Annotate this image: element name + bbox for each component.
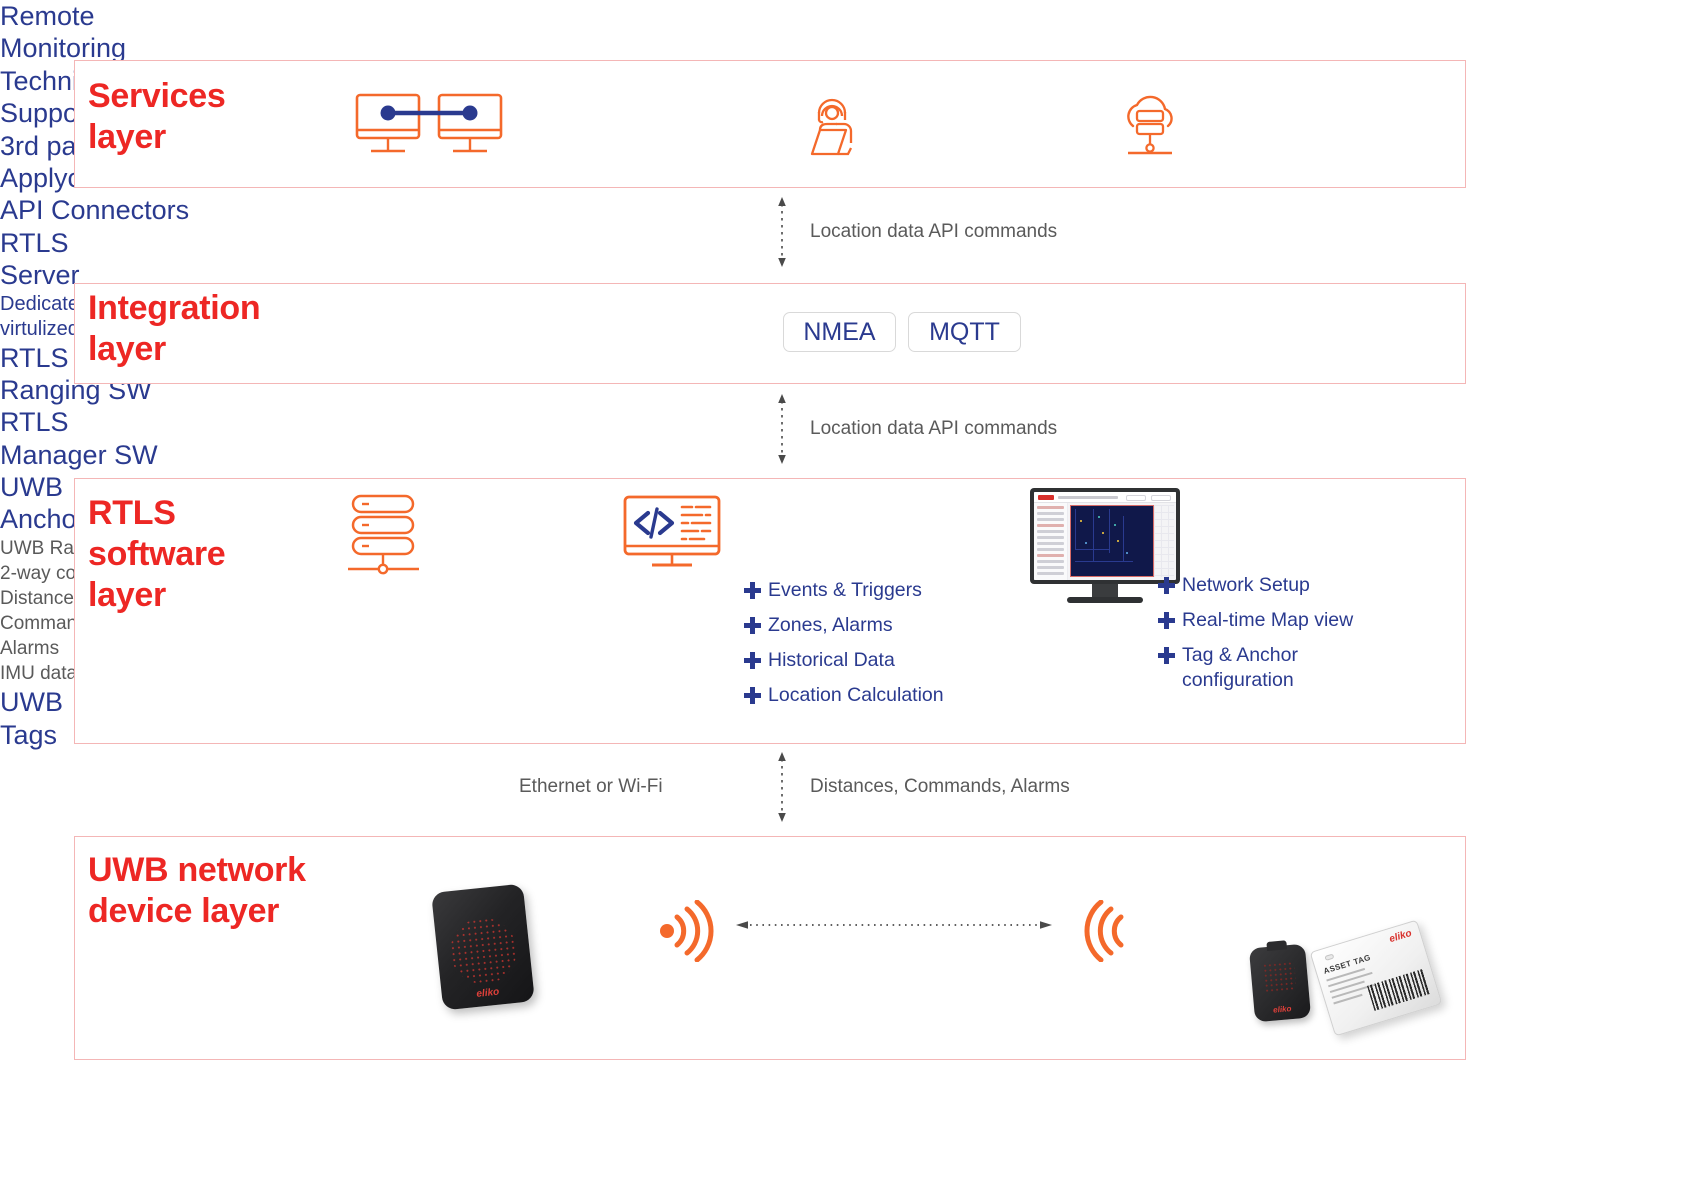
screen-topbar [1034,492,1176,503]
tag-card-brand: eliko [1388,928,1413,945]
tag-lens [1262,961,1296,994]
feature-item: Tag & Anchor configuration [1158,643,1353,693]
plus-icon [1158,612,1175,629]
rtls-manager-sw-feature-list: Network Setup Real-time Map view Tag & A… [1158,573,1353,703]
plus-icon [744,687,761,704]
anchor-body: eliko [431,884,535,1011]
plus-icon [1158,647,1175,664]
server-stack-icon [345,492,423,578]
layer-services [74,60,1466,188]
plus-icon [744,582,761,599]
connector-integration-to-rtls-label: Location data API commands [810,418,1057,440]
plus-icon [744,652,761,669]
topbar-menu [1058,496,1118,499]
feature-item: Location Calculation [744,683,944,708]
anchor-grille [447,915,520,988]
monitor-screen [1034,492,1176,580]
connector-rtls-to-uwb-left-label: Ethernet or Wi-Fi [519,776,663,798]
layer-uwb-device-title: UWB network device layer [88,850,306,932]
feature-item: Real-time Map view [1158,608,1353,633]
rtls-ranging-sw-feature-list: Events & Triggers Zones, Alarms Historic… [744,578,944,718]
tag-brand-label: eliko [1254,1002,1311,1016]
code-monitor-icon [622,494,722,574]
services-item-0-label: Remote Monitoring [0,0,1682,65]
tag-badge-device: eliko [1249,944,1311,1023]
uwb-radio-bidirectional-arrow [736,917,1052,933]
connector-rtls-to-uwb-arrow [772,752,792,822]
connector-rtls-to-uwb-label: Distances, Commands, Alarms [810,776,1070,798]
plus-icon [744,617,761,634]
monitor-neck [1092,584,1118,597]
chip-mqtt[interactable]: MQTT [908,312,1021,352]
layer-services-title: Services layer [88,76,226,158]
monitor-bezel [1030,488,1180,584]
uwb-anchor-device-icon: eliko [437,888,529,1006]
anchor-brand-label: eliko [442,983,535,1004]
feature-item: Zones, Alarms [744,613,944,638]
connector-integration-to-rtls-arrow [772,394,792,464]
eliko-logo [1038,495,1054,500]
plus-icon [1158,577,1175,594]
connector-services-to-integration-arrow [772,197,792,267]
topbar-button-2 [1151,495,1171,501]
monitor-foot [1067,597,1143,603]
floor-plan-map [1070,505,1154,577]
screen-grid-area [1154,505,1174,577]
uwb-tag-device-icon: eliko eliko ASSET TAG [1252,940,1462,1040]
two-monitors-icon [355,93,503,158]
anchor-radio-waves-icon [657,900,715,962]
layer-integration [74,283,1466,384]
tag-card-barcode [1367,969,1430,1011]
topbar-button-1 [1126,495,1146,501]
feature-item: Events & Triggers [744,578,944,603]
connector-services-to-integration-label: Location data API commands [810,221,1057,243]
cloud-server-icon [1118,92,1184,160]
screen-sidebar [1034,503,1068,580]
feature-item: Historical Data [744,648,944,673]
tag-card-hole [1324,954,1334,961]
layer-rtls-software-title: RTLS software layer [88,493,225,615]
headset-support-icon [806,92,868,160]
feature-item: Network Setup [1158,573,1353,598]
layer-integration-title: Integration layer [88,288,260,370]
architecture-diagram: Services layer Remote Monitoring Technic… [0,0,1682,1190]
tag-clip [1266,940,1287,951]
chip-nmea[interactable]: NMEA [783,312,896,352]
tag-radio-waves-icon [1083,900,1141,962]
